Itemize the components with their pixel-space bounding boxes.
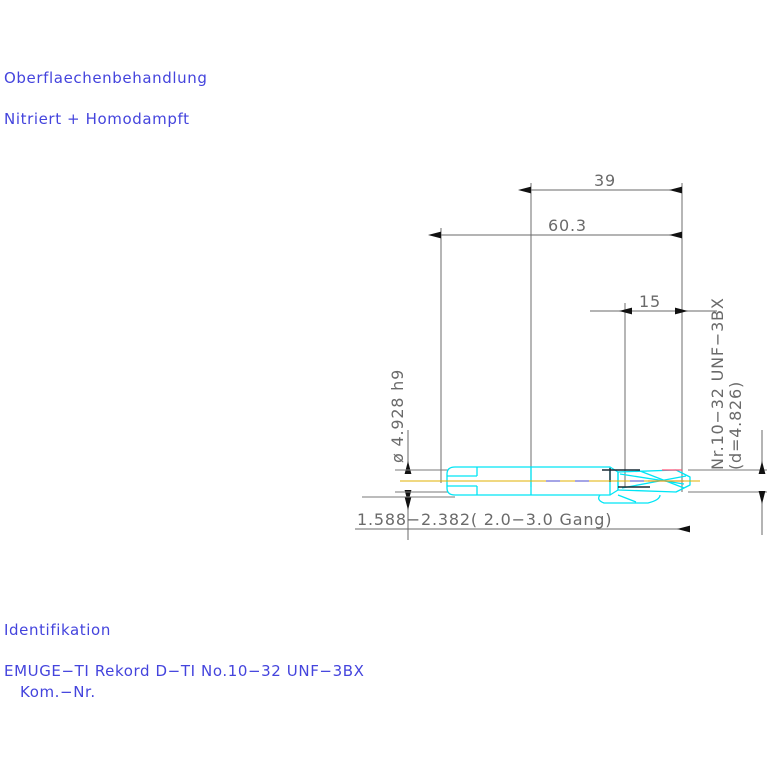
identification-line-2: Kom.−Nr.	[20, 683, 96, 701]
part-flute-bulge-line	[618, 495, 636, 502]
dimension-label-pitch-range: 1.588−2.382( 2.0−3.0 Gang)	[357, 510, 612, 529]
tap-tool-geometry	[400, 467, 700, 503]
dimension-label-thread-spec-line1: Nr.10−32 UNF−3BX	[708, 297, 727, 470]
cad-svg-root: Oberflaechenbehandlung Nitriert + Homoda…	[0, 0, 767, 767]
surface-treatment-value: Nitriert + Homodampft	[4, 110, 190, 128]
dimension-label-thread-spec-line2: (d=4.826)	[726, 381, 745, 470]
identification-line-1: EMUGE−TI Rekord D−TI No.10−32 UNF−3BX	[4, 662, 365, 680]
part-flute-line-2	[622, 476, 686, 488]
part-flute-line-3	[640, 471, 684, 488]
dimension-label-shank-diameter: ø 4.928 h9	[388, 369, 407, 463]
surface-treatment-heading: Oberflaechenbehandlung	[4, 69, 207, 87]
identification-heading: Identifikation	[4, 621, 111, 639]
dimension-label-thread-length: 39	[594, 171, 616, 190]
cad-drawing-canvas: Oberflaechenbehandlung Nitriert + Homoda…	[0, 0, 767, 767]
dimension-label-chamfer-length: 15	[639, 292, 661, 311]
dimension-label-overall-length: 60.3	[548, 216, 587, 235]
